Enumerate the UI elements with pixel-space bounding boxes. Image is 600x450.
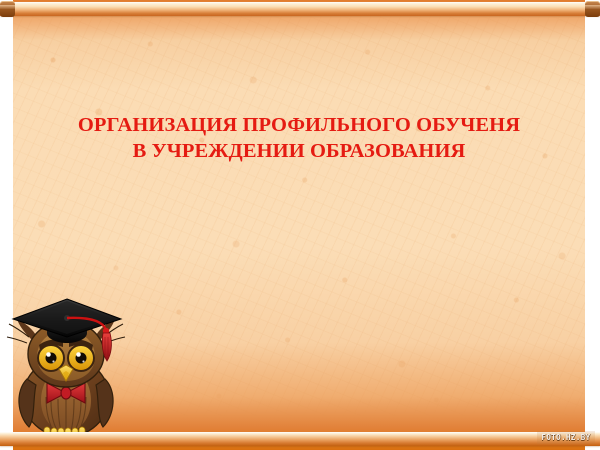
- presentation-slide: ОРГАНИЗАЦИЯ ПРОФИЛЬНОГО ОБУЧЕНЯ В УЧРЕЖД…: [0, 0, 600, 450]
- slide-title-line-2: В УЧРЕЖДЕНИИ ОБРАЗОВАНИЯ: [13, 138, 585, 164]
- top-rod-left-notch-icon: [0, 5, 15, 10]
- bottom-scroll-rod: [0, 432, 600, 446]
- slide-title-line-1: ОРГАНИЗАЦИЯ ПРОФИЛЬНОГО ОБУЧЕНЯ: [13, 112, 585, 138]
- top-rod-right-notch-icon: [585, 5, 600, 10]
- graduate-owl-illustration: [3, 297, 133, 445]
- top-scroll-rod: [0, 2, 600, 16]
- watermark: FOTO.HZ.BY: [537, 431, 595, 444]
- slide-title: ОРГАНИЗАЦИЯ ПРОФИЛЬНОГО ОБУЧЕНЯ В УЧРЕЖД…: [13, 112, 585, 164]
